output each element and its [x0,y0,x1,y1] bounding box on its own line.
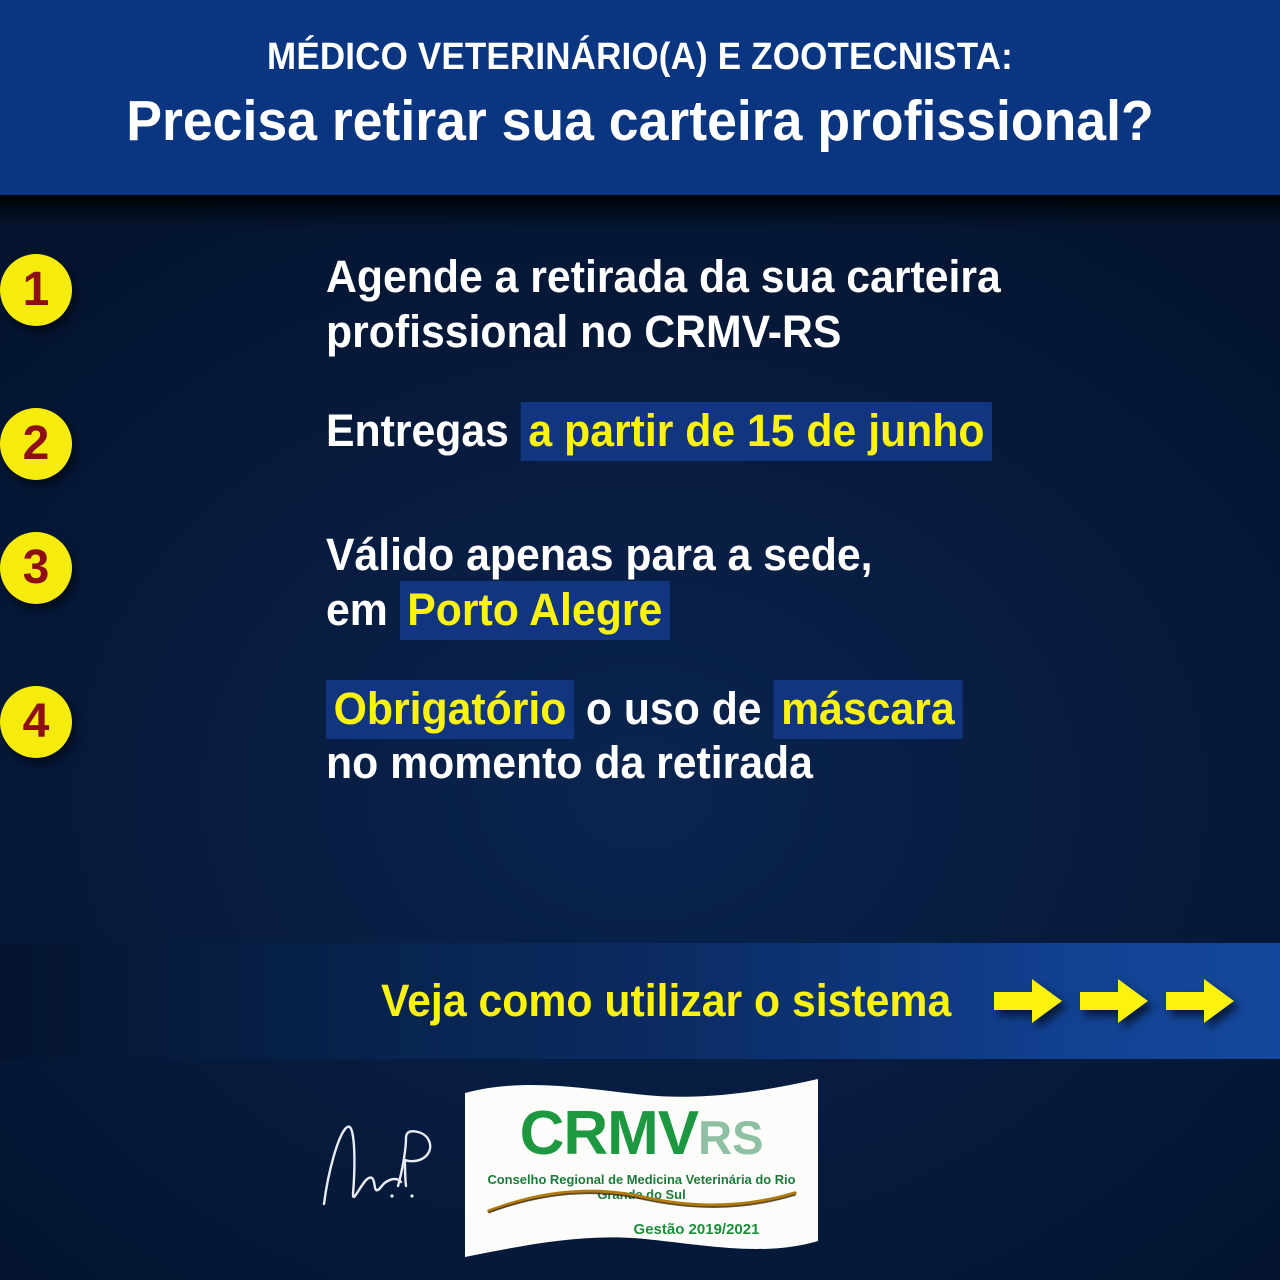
plain-phrase: Válido apenas para a sede, [326,529,873,580]
step-text-line: Válido apenas para a sede, [326,528,1232,583]
arrow-right-icon[interactable] [992,976,1064,1026]
header-banner: MÉDICO VETERINÁRIO(A) E ZOOTECNISTA: Pre… [0,0,1280,195]
crmv-rs-logo: CRMVRS Conselho Regional de Medicina Vet… [465,1075,818,1265]
poster-canvas: MÉDICO VETERINÁRIO(A) E ZOOTECNISTA: Pre… [0,0,1280,1280]
step-text-line: Entregas a partir de 15 de junho [326,404,1232,459]
logo-brand-primary: CRMV [520,1099,699,1168]
plain-phrase: em [326,584,400,635]
step-number-badge: 4 [0,686,72,758]
cta-band[interactable]: Veja como utilizar o sistema [0,943,1280,1059]
plain-phrase: Agende a retirada da sua carteira [326,251,1001,302]
highlighted-phrase: máscara [773,680,962,739]
arrow-row [992,976,1236,1026]
step-item: 2Entregas a partir de 15 de junho [0,404,1280,484]
steps-list: 1Agende a retirada da sua carteiraprofis… [0,250,1280,835]
header-kicker: MÉDICO VETERINÁRIO(A) E ZOOTECNISTA: [51,38,1229,78]
highlighted-phrase: a partir de 15 de junho [521,402,992,461]
plain-phrase: no momento da retirada [326,737,813,788]
step-number-badge: 2 [0,408,72,480]
logo-term: Gestão 2019/2021 [465,1221,818,1238]
step-text: Obrigatório o uso de máscarano momento d… [228,682,1280,792]
step-text: Entregas a partir de 15 de junho [228,404,1280,459]
arrow-right-icon[interactable] [1078,976,1150,1026]
step-text-line: Obrigatório o uso de máscara [326,682,1232,737]
step-item: 1Agende a retirada da sua carteiraprofis… [0,250,1280,360]
plain-phrase: profissional no CRMV-RS [326,306,841,357]
step-text-line: no momento da retirada [326,736,1232,791]
logo-swoosh-icon [487,1185,797,1215]
highlighted-phrase: Obrigatório [326,680,574,739]
page-title: Precisa retirar sua carteira profissiona… [38,90,1241,153]
logo-brand-secondary: RS [698,1111,763,1164]
step-text-line: Agende a retirada da sua carteira [326,250,1232,305]
step-item: 3Válido apenas para a sede,em Porto Aleg… [0,528,1280,638]
handwritten-signature-icon [306,1112,456,1216]
cta-label: Veja como utilizar o sistema [381,975,951,1027]
arrow-right-icon[interactable] [1164,976,1236,1026]
step-number-badge: 1 [0,254,72,326]
header-drop-shadow [0,195,1280,229]
plain-phrase: Entregas [326,405,521,456]
plain-phrase: o uso de [574,683,774,734]
step-item: 4Obrigatório o uso de máscarano momento … [0,682,1280,792]
highlighted-phrase: Porto Alegre [400,581,670,640]
logo-wordmark: CRMVRS [465,1103,818,1165]
step-text-line: em Porto Alegre [326,583,1232,638]
step-text: Válido apenas para a sede,em Porto Alegr… [228,528,1280,638]
step-text: Agende a retirada da sua carteiraprofiss… [228,250,1280,360]
step-number-badge: 3 [0,532,72,604]
step-text-line: profissional no CRMV-RS [326,305,1232,360]
